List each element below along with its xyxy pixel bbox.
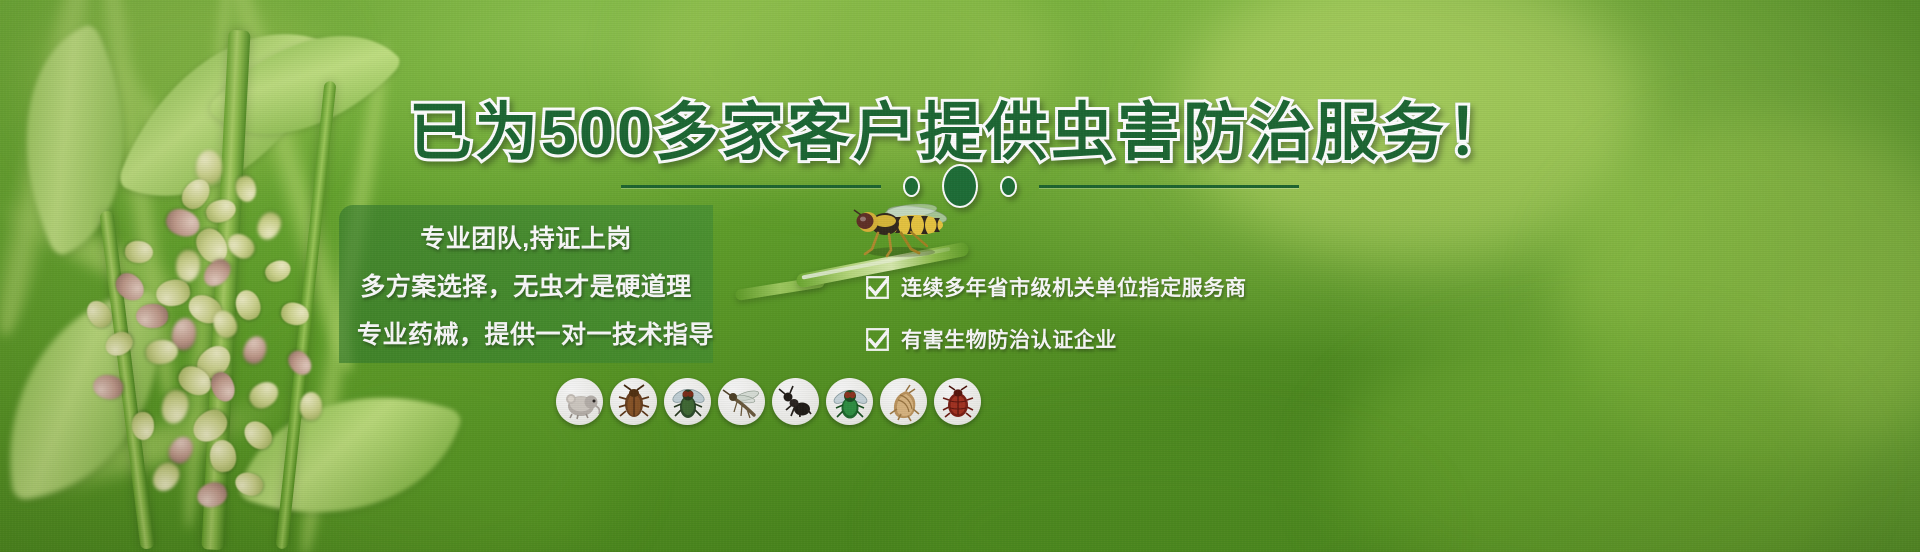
housefly-icon[interactable] <box>664 378 711 425</box>
divider-dot-large <box>942 164 978 208</box>
headline-text: 已为500多家客户提供虫害防治服务！ <box>409 98 1513 168</box>
cockroach-icon[interactable] <box>610 378 657 425</box>
credential-text: 有害生物防治认证企业 <box>901 324 1117 354</box>
selling-point-2: 多方案选择，无虫才是硬道理 <box>357 267 695 303</box>
checkbox-checked-icon <box>866 328 889 351</box>
decorative-divider <box>0 164 1920 208</box>
selling-point-1: 专业团队,持证上岗 <box>357 219 695 255</box>
pest-icon-row <box>556 378 981 425</box>
flower-bud <box>136 304 168 329</box>
divider-line-left <box>621 185 881 188</box>
credential-text: 连续多年省市级机关单位指定服务商 <box>901 272 1247 302</box>
flea-icon[interactable] <box>880 378 927 425</box>
blowfly-icon[interactable] <box>826 378 873 425</box>
ant-icon[interactable] <box>772 378 819 425</box>
page-title: 已为500多家客户提供虫害防治服务！ <box>0 82 1920 173</box>
mouse-icon[interactable] <box>556 378 603 425</box>
credential-item: 连续多年省市级机关单位指定服务商 <box>866 272 1247 302</box>
bedbug-icon[interactable] <box>934 378 981 425</box>
mosquito-icon[interactable] <box>718 378 765 425</box>
checkbox-checked-icon <box>866 276 889 299</box>
pest-control-hero-banner: 已为500多家客户提供虫害防治服务！ 专业团队,持证上岗 多方案选择，无虫才是硬… <box>0 0 1920 552</box>
divider-dot-small-right <box>1000 176 1017 197</box>
divider-line-right <box>1039 185 1299 188</box>
selling-point-3: 专业药械，提供一对一技术指导 <box>357 315 695 351</box>
credentials-list: 连续多年省市级机关单位指定服务商 有害生物防治认证企业 <box>866 272 1247 354</box>
credential-item: 有害生物防治认证企业 <box>866 324 1247 354</box>
divider-dot-small-left <box>903 176 920 197</box>
selling-points-panel: 专业团队,持证上岗 多方案选择，无虫才是硬道理 专业药械，提供一对一技术指导 <box>339 205 713 363</box>
